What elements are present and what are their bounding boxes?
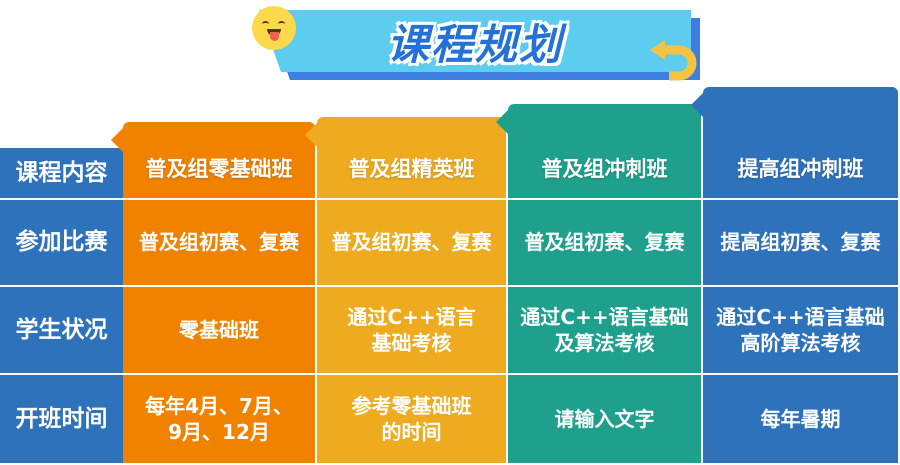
row-label-3: 开班时间 [0, 375, 123, 463]
cell-c2-r2: 通过C++语言基础及算法考核 [508, 287, 701, 373]
smiley-left-eye [262, 21, 269, 27]
column-header-3: 提高组冲刺班 [703, 87, 898, 198]
cell-c2-r3: 请输入文字 [508, 375, 701, 463]
cell-c2-r1: 普及组初赛、复赛 [508, 200, 701, 285]
row-label-0: 课程内容 [0, 148, 123, 198]
course-plan-table: 课程内容参加比赛学生状况开班时间 普及组零基础班普及组初赛、复赛零基础班每年4月… [0, 85, 900, 465]
table-column-1: 普及组零基础班普及组初赛、复赛零基础班每年4月、7月、9月、12月 [123, 85, 315, 465]
smiley-right-eye [278, 21, 285, 27]
row-label-1: 参加比赛 [0, 200, 123, 285]
cell-c0-r1: 普及组初赛、复赛 [123, 200, 315, 285]
cell-c3-r1: 提高组初赛、复赛 [703, 200, 898, 285]
table-column-3: 普及组冲刺班普及组初赛、复赛通过C++语言基础及算法考核请输入文字 [508, 85, 701, 465]
column-header-1: 普及组精英班 [317, 117, 506, 198]
cell-c0-r2: 零基础班 [123, 287, 315, 373]
smiley-tongue-icon [252, 6, 296, 50]
row-label-2: 学生状况 [0, 287, 123, 373]
table-column-2: 普及组精英班普及组初赛、复赛通过C++语言基础考核参考零基础班的时间 [317, 85, 506, 465]
cell-c1-r1: 普及组初赛、复赛 [317, 200, 506, 285]
table-label-column: 课程内容参加比赛学生状况开班时间 [0, 85, 123, 465]
table-column-4: 提高组冲刺班提高组初赛、复赛通过C++语言基础高阶算法考核每年暑期 [703, 85, 898, 465]
column-header-0: 普及组零基础班 [123, 122, 315, 198]
smiley-tongue [270, 32, 279, 41]
cell-c3-r2: 通过C++语言基础高阶算法考核 [703, 287, 898, 373]
curved-back-arrow-icon [645, 32, 705, 82]
cell-c1-r3: 参考零基础班的时间 [317, 375, 506, 463]
cell-c3-r3: 每年暑期 [703, 375, 898, 463]
page-banner: 课程规划 [0, 0, 900, 90]
column-header-2: 普及组冲刺班 [508, 104, 701, 198]
page-title: 课程规划 [259, 10, 691, 72]
cell-c1-r2: 通过C++语言基础考核 [317, 287, 506, 373]
cell-c0-r3: 每年4月、7月、9月、12月 [123, 375, 315, 463]
